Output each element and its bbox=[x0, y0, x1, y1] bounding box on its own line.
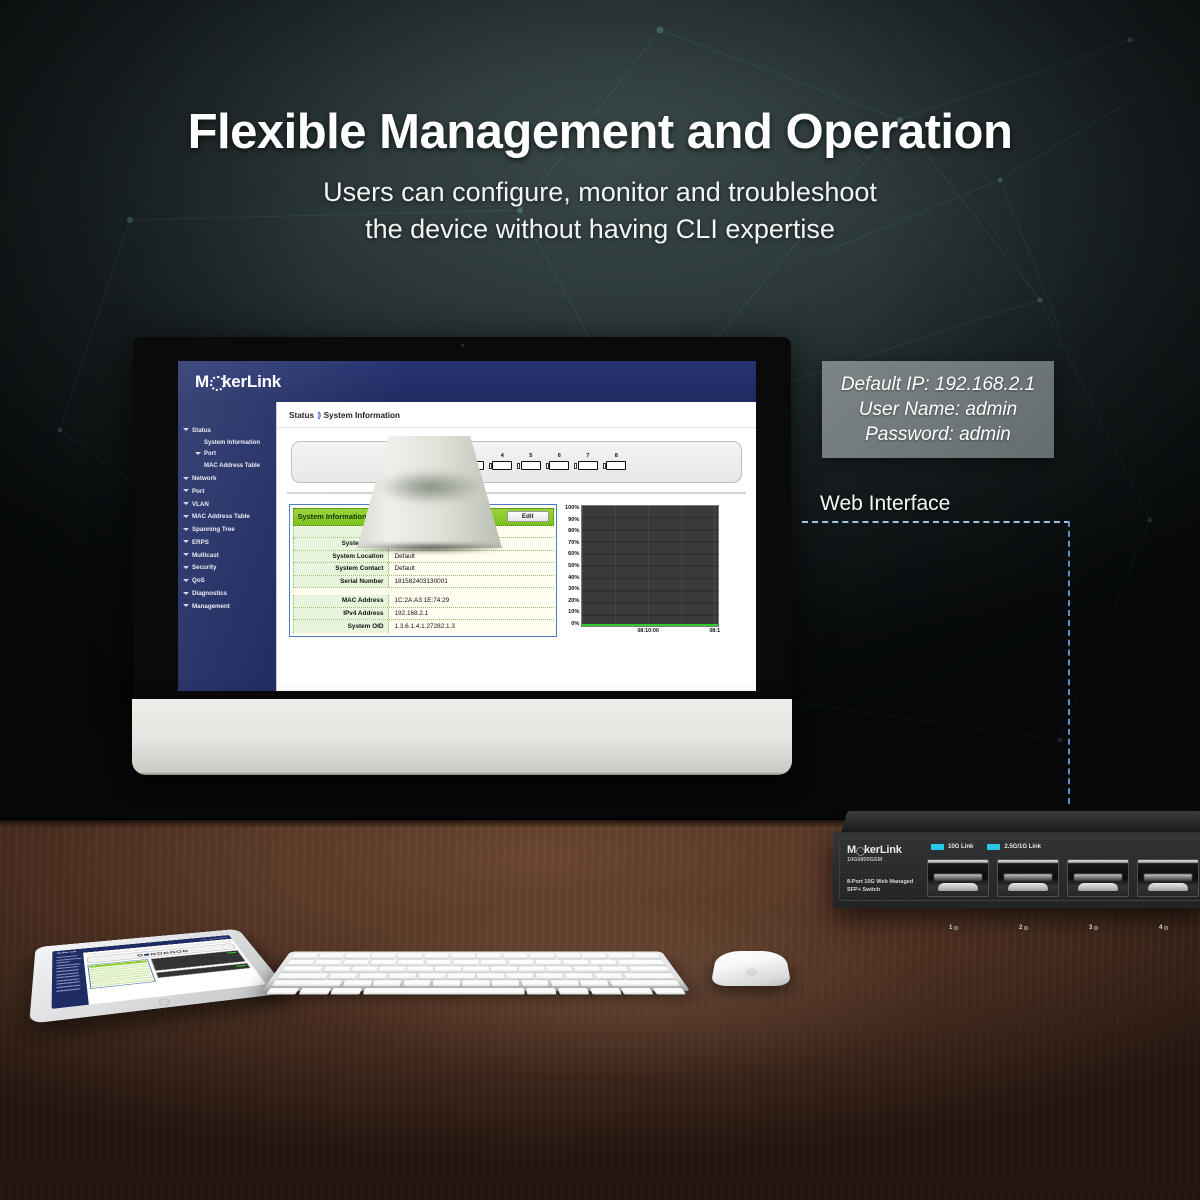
switch-description-line-2: SFP+ Switch bbox=[847, 887, 913, 895]
mouse-body bbox=[711, 951, 792, 986]
tablet-body: MokerLink Save | Logout | Reboot bbox=[29, 929, 290, 1024]
chevron-down-icon bbox=[183, 553, 189, 556]
subtitle-line-2: the device without having CLI expertise bbox=[0, 211, 1200, 248]
monitor-chin bbox=[132, 699, 792, 775]
monitor-foot-shadow bbox=[355, 544, 505, 553]
sidebar-item-security[interactable]: Security bbox=[178, 562, 276, 575]
monitor-stand-shadow bbox=[378, 470, 482, 504]
y-tick: 40% bbox=[565, 575, 579, 581]
sfp-port-4[interactable]: 4 bbox=[1137, 859, 1199, 897]
led-indicator-icon bbox=[987, 844, 1000, 850]
web-ui-topbar: MkerLink bbox=[178, 361, 756, 402]
row-value: 1.3.6.1.4.1.27282.1.3 bbox=[389, 623, 455, 630]
row-label: Serial Number bbox=[293, 576, 389, 588]
sidebar-item-qos[interactable]: QoS bbox=[178, 574, 276, 587]
row-value: 1C:2A:A3:1E:74:29 bbox=[389, 597, 450, 604]
tablet-screen[interactable]: MokerLink Save | Logout | Reboot bbox=[52, 935, 267, 1009]
web-interface-callout-label: Web Interface bbox=[820, 492, 950, 516]
port-box-icon bbox=[549, 461, 569, 470]
tablet-device: MokerLink Save | Logout | Reboot bbox=[36, 902, 268, 1034]
switch-description: 8-Port 10G Web Managed SFP+ Switch bbox=[847, 879, 913, 895]
sidebar-item-label: MAC Address Table bbox=[192, 513, 250, 520]
chevron-down-icon bbox=[183, 502, 189, 505]
x-tick: 08:10:00 bbox=[637, 628, 659, 634]
x-tick: 08:1 bbox=[709, 628, 720, 634]
y-tick: 30% bbox=[565, 586, 579, 592]
hero-text-block: Flexible Management and Operation Users … bbox=[0, 104, 1200, 249]
chart-grid bbox=[581, 505, 719, 627]
table-group-gap bbox=[293, 588, 554, 595]
sidebar-item-port[interactable]: Port bbox=[178, 485, 276, 498]
keyboard[interactable] bbox=[277, 928, 675, 1012]
tablet-home-button[interactable] bbox=[158, 998, 171, 1006]
sidebar-item-label: Multicast bbox=[192, 552, 219, 559]
y-tick: 60% bbox=[565, 551, 579, 557]
port-number: 7 bbox=[578, 454, 598, 460]
sidebar-item-label: Port bbox=[204, 451, 216, 457]
breadcrumb-separator-icon: ⟫ bbox=[317, 411, 321, 420]
credentials-box: Default IP: 192.168.2.1 User Name: admin… bbox=[822, 361, 1054, 458]
sidebar-item-label: System Information bbox=[204, 440, 260, 446]
row-label: System OID bbox=[293, 620, 389, 633]
sidebar-item-label: Diagnostics bbox=[192, 590, 227, 597]
port-box-icon bbox=[492, 461, 512, 470]
table-row: System ContactDefault bbox=[293, 563, 554, 576]
legend-10g-link: 10G Link bbox=[931, 844, 973, 850]
row-value: 192.168.2.1 bbox=[389, 610, 429, 617]
sfp-led-icon bbox=[954, 926, 958, 930]
legend-label: 10G Link bbox=[948, 844, 973, 850]
chevron-down-icon bbox=[183, 566, 189, 569]
sidebar-item-system-information[interactable]: System Information bbox=[178, 437, 276, 449]
switch-top-surface bbox=[841, 811, 1200, 833]
port-6[interactable]: 6 bbox=[549, 454, 569, 470]
row-value: Default bbox=[389, 565, 415, 572]
port-box-icon bbox=[578, 461, 598, 470]
sidebar-item-spanning-tree[interactable]: Spanning Tree bbox=[178, 523, 276, 536]
port-5[interactable]: 5 bbox=[521, 454, 541, 470]
sfp-led-icon bbox=[1094, 926, 1098, 930]
sfp-cage-icon bbox=[1137, 859, 1199, 897]
port-number: 5 bbox=[521, 454, 541, 460]
chevron-down-icon bbox=[183, 604, 189, 607]
chart-y-axis: 100% 90% 80% 70% 60% 50% 40% 30% 20% 10% bbox=[565, 505, 581, 627]
row-label: MAC Address bbox=[293, 595, 389, 607]
breadcrumb-parent[interactable]: Status bbox=[289, 411, 314, 420]
sidebar-item-label: Port bbox=[192, 488, 204, 495]
sidebar-item-multicast[interactable]: Multicast bbox=[178, 549, 276, 562]
chart-series-line bbox=[582, 624, 718, 627]
chevron-down-icon bbox=[183, 515, 189, 518]
led-indicator-icon bbox=[931, 844, 944, 850]
y-tick: 80% bbox=[565, 528, 579, 534]
y-tick: 10% bbox=[565, 609, 579, 615]
sfp-port-label: 1 bbox=[949, 925, 958, 931]
chevron-down-icon bbox=[183, 489, 189, 492]
table-row: System OID1.3.6.1.4.1.27282.1.3 bbox=[293, 620, 554, 633]
sidebar-item-status[interactable]: Status bbox=[178, 424, 276, 437]
y-tick: 20% bbox=[565, 598, 579, 604]
sidebar-item-label: ERPS bbox=[192, 539, 209, 546]
port-4[interactable]: 4 bbox=[492, 454, 512, 470]
keyboard-row bbox=[271, 980, 680, 986]
table-row: MAC Address1C:2A:A3:1E:74:29 bbox=[293, 595, 554, 608]
webcam-icon bbox=[461, 344, 464, 347]
port-status-panel: 1 2 3 4 5 6 7 8 bbox=[291, 441, 742, 483]
sfp-port-label: 2 bbox=[1019, 925, 1028, 931]
row-label: IPv4 Address bbox=[293, 608, 389, 620]
chevron-down-icon bbox=[183, 592, 189, 595]
chevron-down-icon bbox=[183, 528, 189, 531]
chevron-down-icon bbox=[183, 540, 189, 543]
y-tick: 0% bbox=[565, 621, 579, 627]
keyboard-row bbox=[286, 960, 665, 965]
web-ui-content: Status⟫System Information 1 2 3 4 5 6 7 … bbox=[276, 402, 756, 691]
switch-description-line-1: 8-Port 10G Web Managed bbox=[847, 879, 913, 887]
sfp-port-2[interactable]: 2 bbox=[997, 859, 1059, 897]
callout-line-horizontal bbox=[802, 521, 1070, 523]
port-number: 4 bbox=[492, 454, 512, 460]
sidebar-item-diagnostics[interactable]: Diagnostics bbox=[178, 587, 276, 600]
port-8[interactable]: 8 bbox=[606, 454, 626, 470]
sfp-cage-icon bbox=[927, 859, 989, 897]
switch-front-panel: MkerLink 10G0800GSM 8-Port 10G Web Manag… bbox=[833, 832, 1200, 908]
password-text: Password: admin bbox=[865, 424, 1011, 446]
dashboard-lower: System Information Edit Model10G0800GSM … bbox=[289, 504, 748, 637]
keyboard-body bbox=[262, 952, 691, 992]
mouse[interactable] bbox=[714, 936, 788, 998]
port-7[interactable]: 7 bbox=[578, 454, 598, 470]
logo-dotted-o-icon bbox=[856, 846, 864, 854]
table-row: IPv4 Address192.168.2.1 bbox=[293, 608, 554, 621]
keyboard-row bbox=[266, 988, 686, 995]
sfp-cage-icon bbox=[1067, 859, 1129, 897]
sidebar-item-label: Spanning Tree bbox=[192, 526, 235, 533]
y-tick: 70% bbox=[565, 540, 579, 546]
keyboard-row bbox=[277, 973, 676, 979]
section-divider bbox=[287, 492, 746, 494]
tablet-brand-logo: MokerLink bbox=[57, 950, 76, 954]
sidebar-item-label: QoS bbox=[192, 577, 205, 584]
chevron-down-icon bbox=[183, 579, 189, 582]
keyboard-row bbox=[291, 954, 661, 959]
utilization-chart: 100% 90% 80% 70% 60% 50% 40% 30% 20% 10% bbox=[565, 504, 748, 637]
chevron-down-icon bbox=[183, 477, 189, 480]
table-row: Serial Number181582403130001 bbox=[293, 576, 554, 589]
port-number: 6 bbox=[549, 454, 569, 460]
default-ip-text: Default IP: 192.168.2.1 bbox=[841, 374, 1035, 396]
sidebar-item-vlan[interactable]: VLAN bbox=[178, 498, 276, 511]
port-led-icon bbox=[603, 463, 606, 469]
edit-button[interactable]: Edit bbox=[507, 511, 549, 522]
subtitle-line-1: Users can configure, monitor and trouble… bbox=[0, 174, 1200, 211]
sfp-led-icon bbox=[1024, 926, 1028, 930]
port-led-icon bbox=[517, 463, 520, 469]
sidebar-item-port-status[interactable]: Port bbox=[178, 449, 276, 461]
sidebar-item-erps[interactable]: ERPS bbox=[178, 536, 276, 549]
sfp-port-label: 3 bbox=[1089, 925, 1098, 931]
port-box-icon bbox=[521, 461, 541, 470]
sfp-cage-icon bbox=[997, 859, 1059, 897]
sidebar-item-network[interactable]: Network bbox=[178, 472, 276, 485]
sidebar-item-mac-address-table[interactable]: MAC Address Table bbox=[178, 510, 276, 523]
port-box-icon bbox=[606, 461, 626, 470]
tablet-system-info-table bbox=[87, 959, 155, 989]
sidebar-item-label: Status bbox=[192, 427, 211, 434]
sfp-port-1[interactable]: 1 bbox=[927, 859, 989, 897]
y-tick: 50% bbox=[565, 563, 579, 569]
chart-x-axis: 08:10:00 08:1 bbox=[605, 627, 719, 637]
switch-led-legend: 10G Link 2.5G/1G Link bbox=[931, 844, 1041, 850]
sidebar-item-label: MAC Address Table bbox=[204, 463, 260, 469]
port-number: 8 bbox=[606, 454, 626, 460]
switch-brand-logo: MkerLink bbox=[847, 844, 902, 856]
y-tick: 100% bbox=[565, 505, 579, 511]
user-name-text: User Name: admin bbox=[859, 399, 1017, 421]
legend-label: 2.5G/1G Link bbox=[1004, 844, 1041, 850]
page-subtitle: Users can configure, monitor and trouble… bbox=[0, 174, 1200, 249]
sidebar-item-management[interactable]: Management bbox=[178, 600, 276, 613]
port-led-icon bbox=[546, 463, 549, 469]
breadcrumb: Status⟫System Information bbox=[277, 402, 756, 428]
port-led-icon bbox=[489, 463, 492, 469]
sidebar-item-label: VLAN bbox=[192, 501, 209, 508]
sidebar-item-label: Network bbox=[192, 475, 216, 482]
callout-line-vertical bbox=[1068, 521, 1070, 804]
row-label: System Contact bbox=[293, 563, 389, 575]
sidebar-item-mac-address-table-status[interactable]: MAC Address Table bbox=[178, 460, 276, 472]
poster-stage: Flexible Management and Operation Users … bbox=[0, 0, 1200, 1200]
sfp-port-row: 1 2 3 4 5 bbox=[927, 859, 1200, 897]
logo-dotted-o-icon bbox=[209, 375, 222, 388]
table-title: System Information bbox=[298, 512, 367, 521]
legend-25g-1g-link: 2.5G/1G Link bbox=[987, 844, 1041, 850]
breadcrumb-current: System Information bbox=[324, 411, 400, 420]
page-title: Flexible Management and Operation bbox=[0, 104, 1200, 160]
keyboard-row bbox=[282, 966, 671, 972]
sfp-led-icon bbox=[1164, 926, 1168, 930]
mouse-logo-icon bbox=[746, 969, 758, 977]
chevron-down-icon bbox=[183, 428, 189, 431]
sidebar-item-label: Security bbox=[192, 564, 216, 571]
switch-model-label: 10G0800GSM bbox=[847, 857, 882, 863]
sfp-port-label: 4 bbox=[1159, 925, 1168, 931]
sfp-port-3[interactable]: 3 bbox=[1067, 859, 1129, 897]
row-value: Default bbox=[389, 553, 415, 560]
web-ui-sidebar[interactable]: Status System Information Port MAC Addre… bbox=[178, 402, 276, 691]
web-ui-logo[interactable]: MkerLink bbox=[195, 372, 281, 392]
sidebar-item-label: Management bbox=[192, 603, 230, 610]
network-switch-device: MkerLink 10G0800GSM 8-Port 10G Web Manag… bbox=[833, 811, 1200, 931]
port-led-icon bbox=[574, 463, 577, 469]
chevron-down-icon bbox=[195, 452, 201, 455]
row-value: 181582403130001 bbox=[389, 578, 448, 585]
y-tick: 90% bbox=[565, 517, 579, 523]
chart-plot-area: 08:10:00 08:1 bbox=[581, 505, 719, 637]
